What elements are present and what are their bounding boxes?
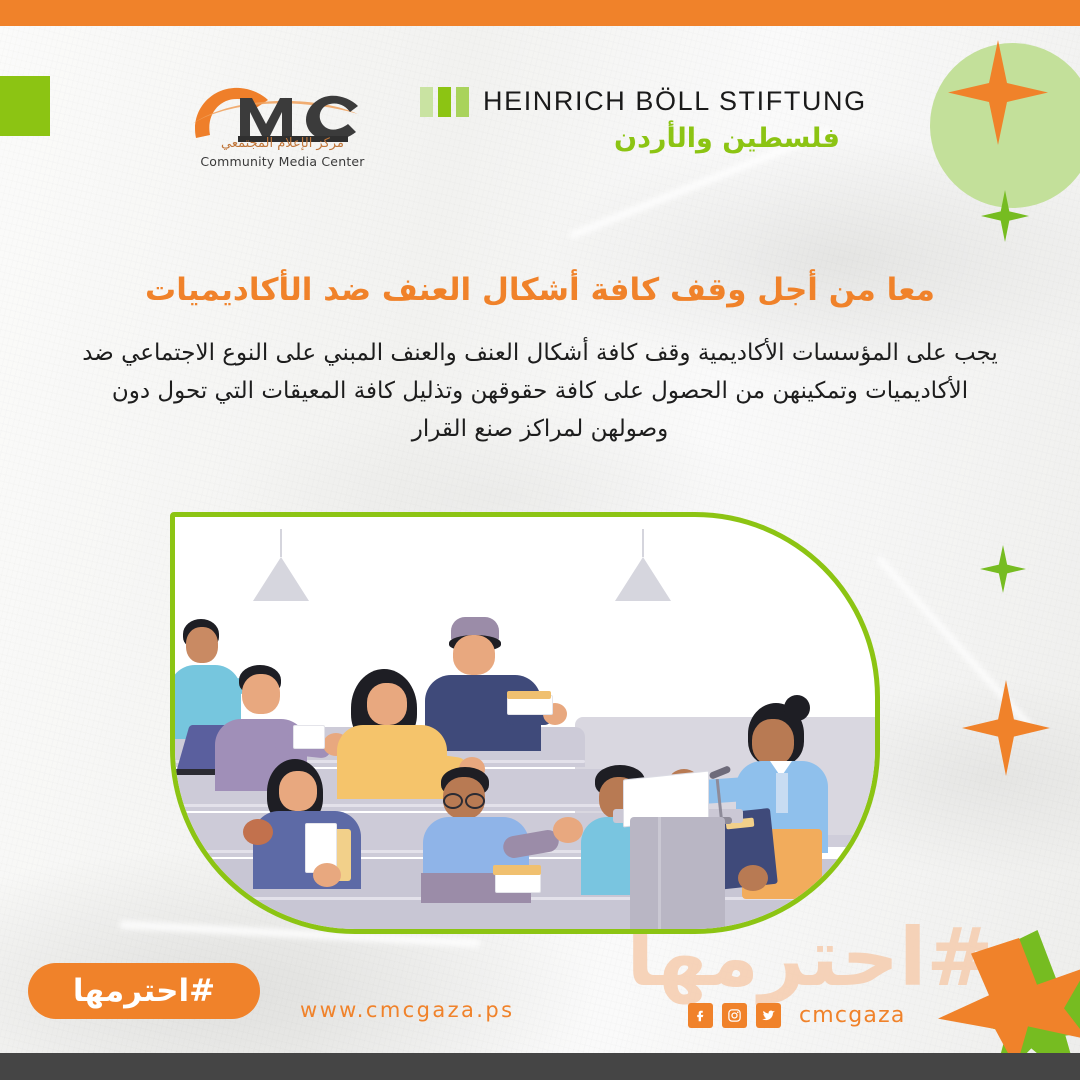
facebook-icon[interactable] [688, 1003, 713, 1028]
hbs-name: HEINRICH BÖLL STIFTUNG [483, 86, 867, 117]
page-body-text: يجب على المؤسسات الأكاديمية وقف كافة أشك… [75, 335, 1005, 449]
social-handle[interactable]: cmcgaza [799, 1003, 906, 1028]
page-headline: معا من أجل وقف كافة أشكال العنف ضد الأكا… [60, 272, 1020, 308]
website-link[interactable]: www.cmcgaza.ps [300, 998, 514, 1022]
instagram-icon[interactable] [722, 1003, 747, 1028]
poster-canvas: مركز الإعلام المجتمعي Community Media Ce… [0, 0, 1080, 1080]
hbs-region-arabic: فلسطين والأردن [420, 123, 844, 154]
hbs-bars-icon [420, 87, 469, 117]
cmc-arabic-tagline: مركز الإعلام المجتمعي [190, 136, 375, 151]
social-links: cmcgaza [688, 1003, 906, 1028]
top-orange-bar [0, 0, 1080, 26]
hashtag-badge[interactable]: #احترمها [28, 963, 260, 1019]
hashtag-badge-label: #احترمها [73, 973, 215, 1009]
ceiling-lamp-icon [253, 529, 309, 604]
cmc-english-tagline: Community Media Center [190, 154, 375, 169]
cmc-logo[interactable]: مركز الإعلام المجتمعي Community Media Ce… [190, 80, 375, 185]
header: مركز الإعلام المجتمعي Community Media Ce… [0, 58, 1080, 188]
lecture-hall-illustration [170, 512, 880, 934]
twitter-icon[interactable] [756, 1003, 781, 1028]
ceiling-lamp-icon [615, 529, 671, 604]
bottom-dark-bar [0, 1053, 1080, 1080]
heinrich-boll-stiftung-logo[interactable]: HEINRICH BÖLL STIFTUNG فلسطين والأردن [420, 86, 840, 178]
podium [630, 817, 725, 934]
bench-edge [170, 804, 635, 807]
